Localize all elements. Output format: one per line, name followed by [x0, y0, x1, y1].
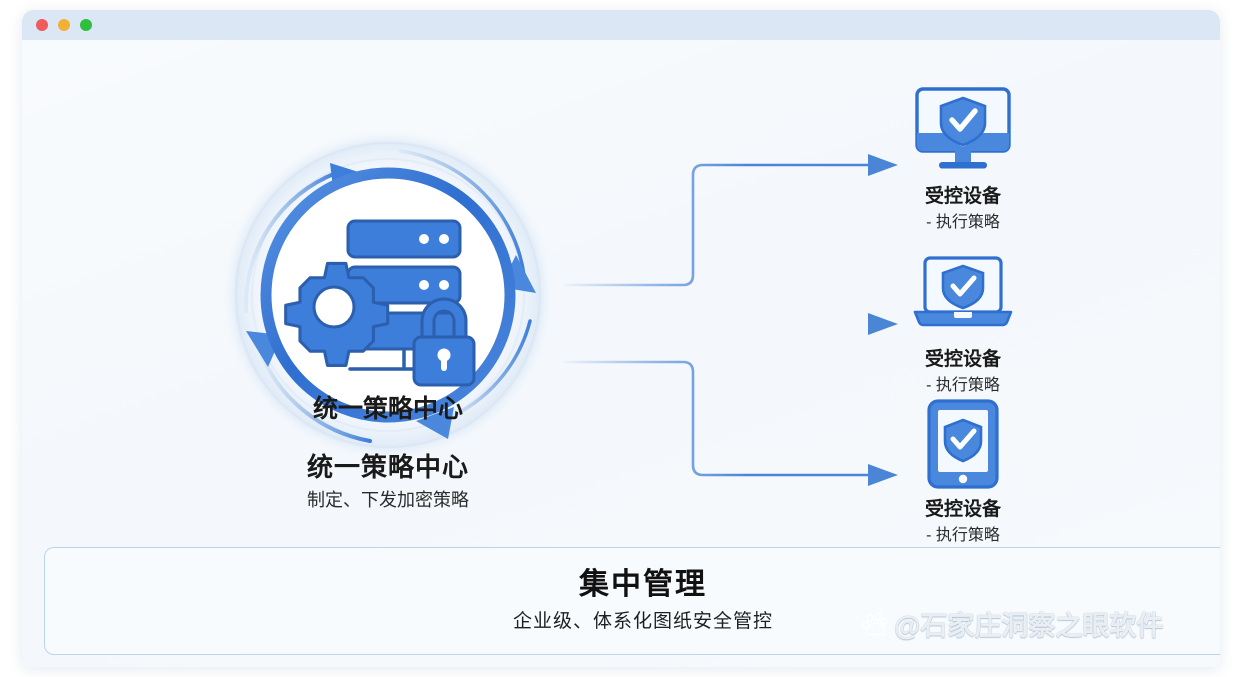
hub-inner-label: 统一策略中心: [313, 394, 463, 423]
lock-icon: [414, 299, 474, 385]
close-button[interactable]: [36, 19, 48, 31]
device-node-sublabel: - 执行策略: [868, 524, 1058, 548]
device-node-sublabel: - 执行策略: [868, 374, 1058, 398]
window-titlebar: [22, 10, 1220, 40]
hub-caption: 统一策略中心 制定、下发加密策略: [208, 450, 568, 514]
desktop-monitor-shield-icon: [868, 85, 1058, 177]
connector-path-top: [564, 165, 872, 285]
connector-path-bottom: [564, 362, 872, 475]
app-window: 统一策略中心 统一策略中心 制定、下发加密策略: [22, 10, 1220, 667]
tablet-shield-icon: [868, 398, 1058, 490]
hub-caption-subtitle: 制定、下发加密策略: [208, 486, 568, 514]
device-node-label: 受控设备: [868, 183, 1058, 211]
connector-group: [542, 100, 902, 520]
summary-banner: 集中管理 企业级、体系化图纸安全管控: [44, 547, 1220, 655]
device-node-sublabel: - 执行策略: [868, 211, 1058, 235]
device-node-label: 受控设备: [868, 496, 1058, 524]
maximize-button[interactable]: [80, 19, 92, 31]
policy-center-hub: 统一策略中心: [218, 125, 558, 465]
banner-title: 集中管理: [579, 565, 707, 605]
device-node-desktop: 受控设备 - 执行策略: [868, 85, 1058, 235]
laptop-shield-icon: [868, 248, 1058, 340]
device-node-laptop: 受控设备 - 执行策略: [868, 248, 1058, 398]
device-node-tablet: 受控设备 - 执行策略: [868, 398, 1058, 548]
banner-subtitle: 企业级、体系化图纸安全管控: [513, 607, 773, 637]
minimize-button[interactable]: [58, 19, 70, 31]
hub-caption-title: 统一策略中心: [208, 450, 568, 484]
device-node-label: 受控设备: [868, 346, 1058, 374]
